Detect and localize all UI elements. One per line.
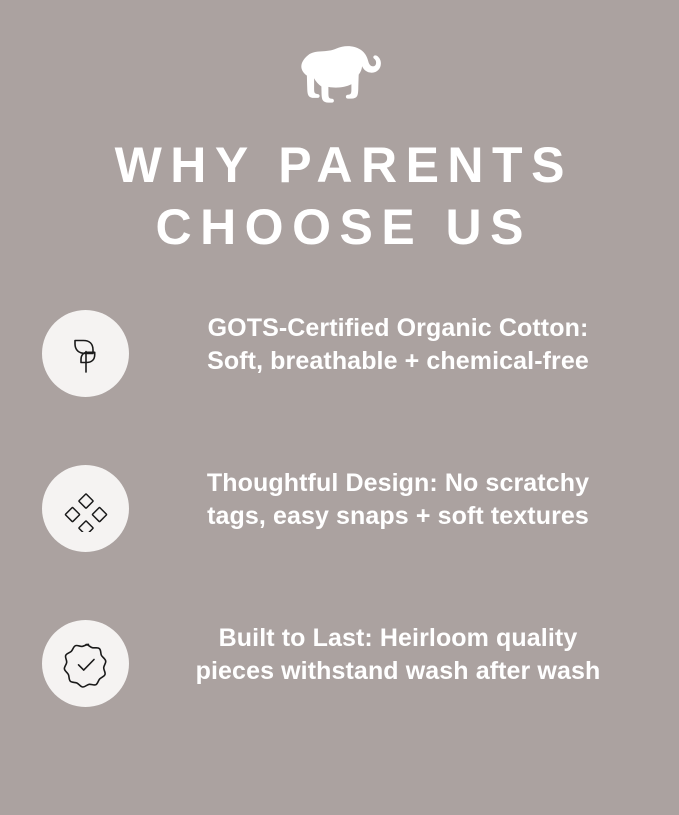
feature-text-built-to-last: Built to Last: Heirloom quality pieces w…	[152, 622, 644, 688]
why-parents-choose-us-poster: WHY PARENTS CHOOSE US GOTS-Certified Org…	[0, 0, 679, 815]
elephant-icon	[292, 42, 388, 110]
sprout-icon	[63, 331, 109, 377]
sprout-icon-badge	[42, 310, 129, 397]
feature-text-thoughtful-design: Thoughtful Design: No scratchy tags, eas…	[152, 467, 644, 533]
feature-item-organic-cotton: GOTS-Certified Organic Cotton: Soft, bre…	[0, 297, 679, 452]
feature-line-2: pieces withstand wash after wash	[152, 655, 644, 688]
feature-list: GOTS-Certified Organic Cotton: Soft, bre…	[0, 297, 679, 762]
page-title-line-2: CHOOSE US	[0, 196, 679, 258]
feature-line-1: GOTS-Certified Organic Cotton:	[152, 312, 644, 345]
four-diamonds-icon	[63, 486, 109, 532]
feature-line-1: Thoughtful Design: No scratchy	[152, 467, 644, 500]
feature-text-organic-cotton: GOTS-Certified Organic Cotton: Soft, bre…	[152, 312, 644, 378]
feature-item-built-to-last: Built to Last: Heirloom quality pieces w…	[0, 607, 679, 762]
feature-line-2: tags, easy snaps + soft textures	[152, 500, 644, 533]
brand-logo	[0, 36, 679, 116]
page-title-line-1: WHY PARENTS	[0, 134, 679, 196]
page-title: WHY PARENTS CHOOSE US	[0, 134, 679, 258]
feature-line-1: Built to Last: Heirloom quality	[152, 622, 644, 655]
feature-item-thoughtful-design: Thoughtful Design: No scratchy tags, eas…	[0, 452, 679, 607]
verified-badge-check-icon	[61, 639, 111, 689]
four-diamonds-icon-badge	[42, 465, 129, 552]
verified-badge-check-icon-badge	[42, 620, 129, 707]
feature-line-2: Soft, breathable + chemical-free	[152, 345, 644, 378]
